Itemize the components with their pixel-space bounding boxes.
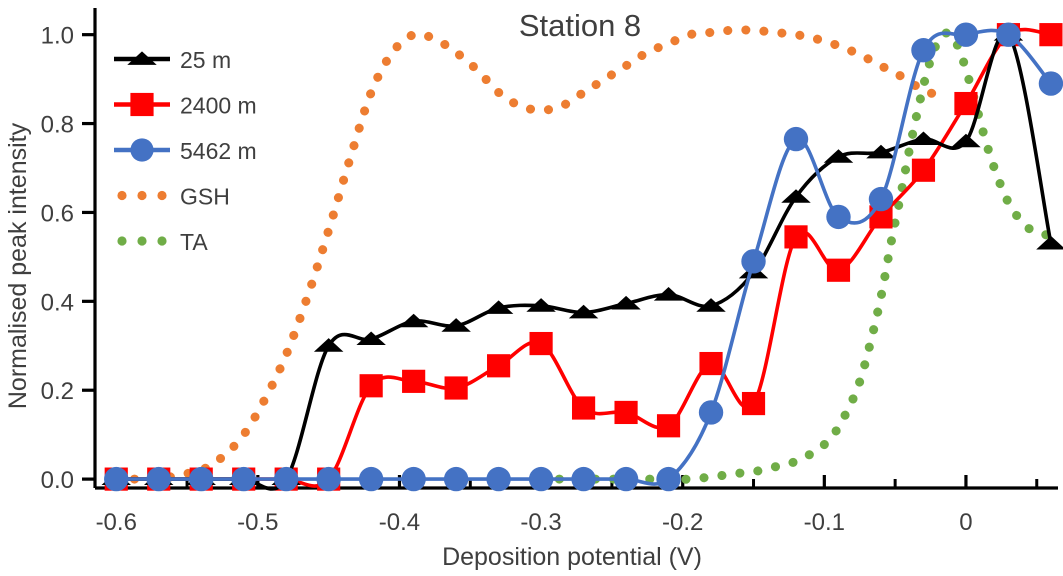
chart-svg: Station 8 Normalised peak intensity Depo… xyxy=(0,0,1063,576)
data-point-marker xyxy=(742,392,765,415)
data-point-marker xyxy=(487,354,510,377)
legend-marker xyxy=(157,191,166,200)
data-point-marker xyxy=(784,225,807,248)
data-point-marker xyxy=(360,374,383,397)
legend-label: 5462 m xyxy=(180,138,257,164)
data-point-marker xyxy=(657,414,680,437)
data-point-marker xyxy=(189,467,213,491)
data-point-marker xyxy=(954,92,977,115)
data-point-marker xyxy=(1039,71,1063,95)
x-tick-label: -0.3 xyxy=(520,509,561,536)
data-point-marker xyxy=(954,22,978,46)
y-tick-label: 0.0 xyxy=(41,467,74,494)
y-tick-label: 0.8 xyxy=(41,112,74,139)
data-point-marker xyxy=(614,467,638,491)
data-point-marker xyxy=(529,467,553,491)
x-tick-label: -0.5 xyxy=(237,509,278,536)
y-tick-label: 1.0 xyxy=(41,23,74,50)
x-tick-label: -0.6 xyxy=(96,509,137,536)
data-point-marker xyxy=(231,467,255,491)
data-point-marker xyxy=(274,467,298,491)
legend-label: GSH xyxy=(180,184,230,210)
data-point-marker xyxy=(444,467,468,491)
y-tick-label: 0.6 xyxy=(41,200,74,227)
legend-label: 25 m xyxy=(180,47,231,73)
legend-marker xyxy=(157,236,166,245)
legend-item-2400-m[interactable]: 2400 m xyxy=(114,93,257,119)
data-point-marker xyxy=(445,376,468,399)
x-tick-label: -0.1 xyxy=(804,509,845,536)
data-point-marker xyxy=(826,205,850,229)
data-point-marker xyxy=(104,467,128,491)
data-point-marker xyxy=(130,93,153,116)
chart-title: Station 8 xyxy=(519,8,641,43)
data-point-marker xyxy=(656,467,680,491)
data-point-marker xyxy=(614,401,637,424)
data-point-marker xyxy=(359,467,383,491)
legend-marker xyxy=(137,236,146,245)
y-tick-label: 0.4 xyxy=(41,289,74,316)
data-point-marker xyxy=(827,259,850,282)
data-point-marker xyxy=(869,187,893,211)
data-point-marker xyxy=(1039,23,1062,46)
data-point-marker xyxy=(571,467,595,491)
x-axis-label: Deposition potential (V) xyxy=(442,543,702,571)
legend-label: 2400 m xyxy=(180,93,257,119)
data-point-marker xyxy=(699,352,722,375)
data-point-marker xyxy=(130,138,153,161)
y-axis-label: Normalised peak intensity xyxy=(4,122,32,409)
legend-marker xyxy=(117,191,126,200)
data-point-marker xyxy=(530,332,553,355)
x-tick-label: -0.2 xyxy=(662,509,703,536)
legend-label: TA xyxy=(180,229,208,255)
data-point-marker xyxy=(486,467,510,491)
data-point-marker xyxy=(741,249,765,273)
data-point-marker xyxy=(316,467,340,491)
data-point-marker xyxy=(401,467,425,491)
data-point-marker xyxy=(699,400,723,424)
legend-marker xyxy=(137,191,146,200)
legend-marker xyxy=(117,236,126,245)
x-tick-label: -0.4 xyxy=(379,509,420,536)
data-point-marker xyxy=(912,159,935,182)
data-point-marker xyxy=(911,38,935,62)
data-point-marker xyxy=(996,22,1020,46)
x-tick-label: 0 xyxy=(959,509,972,536)
data-point-marker xyxy=(784,127,808,151)
y-tick-label: 0.2 xyxy=(41,378,74,405)
chart-container: Station 8 Normalised peak intensity Depo… xyxy=(0,0,1063,576)
data-point-marker xyxy=(402,370,425,393)
data-point-marker xyxy=(572,396,595,419)
data-point-marker xyxy=(147,467,171,491)
